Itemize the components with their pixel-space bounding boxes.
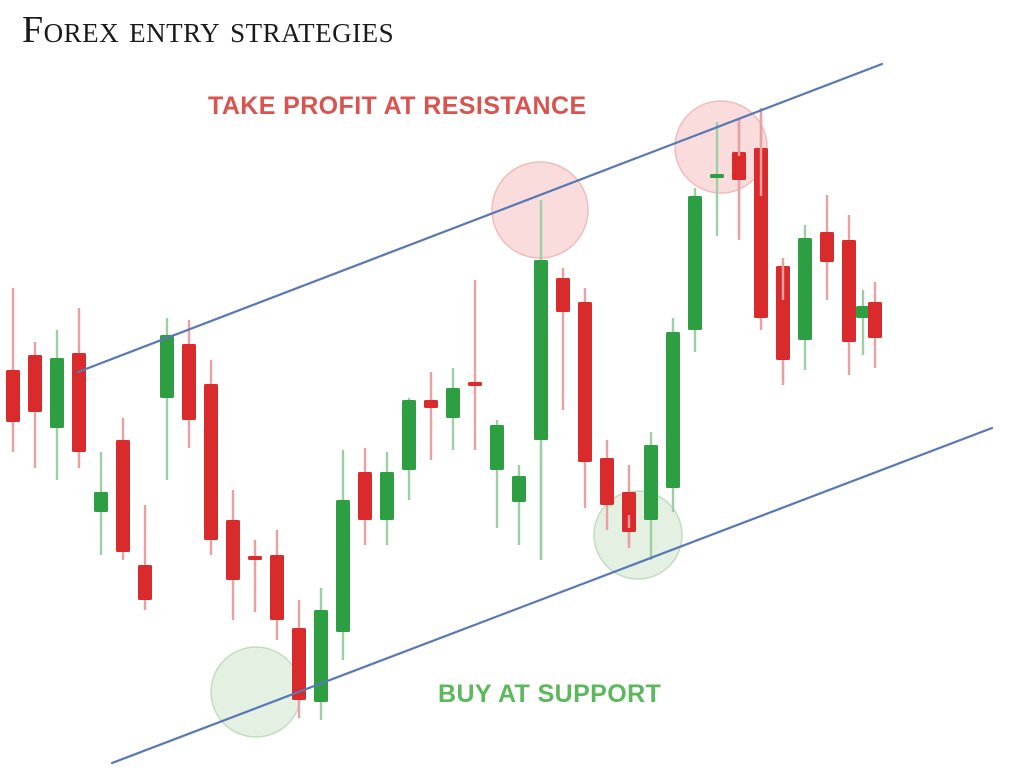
- candle: [28, 342, 42, 468]
- candle: [842, 215, 856, 375]
- resistance-annotation-label: TAKE PROFIT AT RESISTANCE: [208, 92, 587, 121]
- candle: [314, 588, 328, 720]
- candle: [556, 268, 570, 410]
- candle: [666, 318, 680, 512]
- candle: [820, 195, 834, 300]
- candle: [868, 282, 882, 368]
- candle: [204, 360, 218, 555]
- zone-resistance-touch-2: [675, 101, 767, 193]
- trendline-support: [112, 428, 992, 763]
- candle: [490, 420, 504, 528]
- candle: [856, 290, 870, 355]
- candle: [94, 452, 108, 555]
- chart-page: Forex entry strategies TAKE PROFIT AT RE…: [0, 0, 1024, 768]
- candle: [270, 530, 284, 640]
- candle: [446, 368, 460, 450]
- candle: [182, 320, 196, 448]
- candle: [798, 225, 812, 370]
- candle: [116, 418, 130, 560]
- candle: [226, 490, 240, 620]
- candle: [160, 318, 174, 480]
- candle: [6, 288, 20, 452]
- candle: [248, 540, 262, 612]
- candle-layer: [6, 108, 882, 720]
- candle: [578, 288, 592, 508]
- candle: [512, 465, 526, 545]
- candle: [468, 280, 482, 450]
- candle: [402, 398, 416, 500]
- candle: [688, 188, 702, 352]
- support-annotation-label: BUY AT SUPPORT: [438, 680, 661, 709]
- candle: [424, 372, 438, 460]
- candle: [138, 505, 152, 610]
- candle: [72, 308, 86, 468]
- candle: [358, 448, 372, 545]
- candle: [336, 450, 350, 660]
- zone-support-touch-1: [211, 647, 301, 737]
- candle: [380, 452, 394, 545]
- candle: [50, 330, 64, 480]
